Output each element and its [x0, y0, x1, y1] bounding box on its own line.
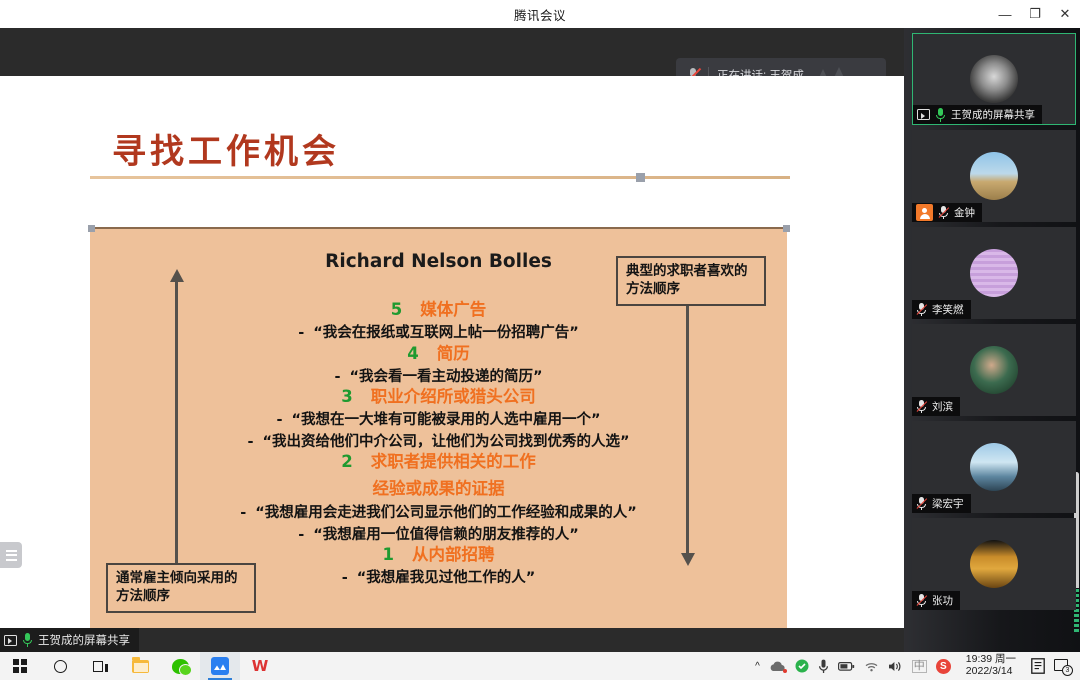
shared-slide[interactable]: 寻找工作机会 Richard Nelson Bolles 典型的求职者喜欢的方法…: [0, 76, 904, 628]
title-divider: [90, 176, 790, 179]
method-number: 5: [391, 300, 402, 319]
method-item-3: 3职业介绍所或猎头公司: [90, 389, 787, 406]
mic-muted-icon: [916, 497, 927, 510]
participant-name: 李笑燃: [932, 302, 964, 317]
host-person-icon: [916, 204, 933, 221]
mic-on-icon: [22, 633, 33, 647]
participant-name: 金钟: [954, 205, 975, 220]
clock-date: 2022/3/14: [966, 666, 1016, 678]
method-quote: -“我想雇用会走进我们公司显示他们的工作经验和成果的人”: [90, 506, 787, 521]
method-heading: 求职者提供相关的工作: [371, 452, 536, 471]
battery-icon[interactable]: [838, 661, 855, 672]
bullet-dash: -: [276, 412, 282, 428]
selection-handle-top-left[interactable]: [88, 225, 95, 232]
sogou-icon[interactable]: S: [936, 659, 951, 674]
wps-office-icon[interactable]: W: [240, 652, 280, 680]
mic-muted-icon: [938, 206, 949, 219]
method-quote: -“我会看一看主动投递的简历”: [90, 370, 787, 385]
share-status-label: 王贺成的屏幕共享: [38, 632, 130, 648]
method-number: 2: [341, 452, 352, 471]
cloud-sync-icon[interactable]: [769, 660, 786, 673]
participant-namebar: 刘滨: [912, 397, 960, 416]
method-quote: -“我会在报纸或互联网上帖一份招聘广告”: [90, 326, 787, 341]
participant-tile[interactable]: 李笑燃: [912, 227, 1076, 319]
method-quote: -“我想雇用一位值得信赖的朋友推荐的人”: [90, 528, 787, 543]
screen-share-icon: [917, 109, 930, 120]
participant-namebar: 李笑燃: [912, 300, 971, 319]
windows-taskbar: W ^: [0, 652, 1080, 680]
method-heading: 简历: [437, 344, 470, 363]
participant-rail[interactable]: 王贺成的屏幕共享金钟李笑燃刘滨梁宏宇张功: [904, 28, 1080, 652]
method-number: 4: [407, 344, 418, 363]
tencent-meeting-window: 腾讯会议 — ❐ ✕ 正在讲话: 王贺成 寻找工作机会: [0, 0, 1080, 680]
avatar: [970, 55, 1018, 103]
window-controls: — ❐ ✕: [990, 0, 1080, 28]
window-titlebar: 腾讯会议 — ❐ ✕: [0, 0, 1080, 28]
avatar: [970, 249, 1018, 297]
participant-namebar: 梁宏宇: [912, 494, 971, 513]
maximize-button[interactable]: ❐: [1020, 0, 1050, 28]
participant-namebar: 张功: [912, 591, 960, 610]
avatar: [970, 443, 1018, 491]
meeting-topbar: 正在讲话: 王贺成: [0, 28, 904, 76]
task-view-icon[interactable]: [80, 652, 120, 680]
participant-tile[interactable]: 梁宏宇: [912, 421, 1076, 513]
search-circle-icon[interactable]: [40, 652, 80, 680]
bullet-dash: -: [298, 527, 304, 543]
participant-name: 张功: [932, 593, 953, 608]
method-quote: -“我想在一大堆有可能被录用的人选中雇用一个”: [90, 413, 787, 428]
mic-muted-icon: [916, 303, 927, 316]
wechat-icon[interactable]: [160, 652, 200, 680]
share-status-label-wrap: 王贺成的屏幕共享: [0, 628, 139, 652]
participant-name: 王贺成的屏幕共享: [951, 107, 1035, 122]
window-title: 腾讯会议: [514, 5, 566, 24]
notes-icon[interactable]: [1031, 658, 1045, 674]
meeting-stage: 正在讲话: 王贺成 寻找工作机会 Richard Nelson Bolles 典…: [0, 28, 904, 652]
bullet-dash: -: [342, 570, 348, 586]
avatar: [970, 346, 1018, 394]
minimize-button[interactable]: —: [990, 0, 1020, 28]
method-item-2: 2求职者提供相关的工作: [90, 454, 787, 471]
participant-tile[interactable]: 金钟: [912, 130, 1076, 222]
method-item-1: 1从内部招聘: [90, 547, 787, 564]
microphone-icon[interactable]: [818, 659, 829, 674]
bullet-dash: -: [240, 505, 246, 521]
slide-title: 寻找工作机会: [112, 124, 340, 173]
avatar: [970, 540, 1018, 588]
participant-tile[interactable]: 张功: [912, 518, 1076, 610]
tray-chevron-icon[interactable]: ^: [755, 661, 760, 672]
selection-handle-top-right[interactable]: [783, 225, 790, 232]
slide-content-box: Richard Nelson Bolles 典型的求职者喜欢的方法顺序 通常雇主…: [90, 227, 787, 628]
method-list: 5媒体广告-“我会在报纸或互联网上帖一份招聘广告”4简历-“我会看一看主动投递的…: [90, 297, 787, 586]
windows-start-icon[interactable]: [0, 652, 40, 680]
security-icon[interactable]: [795, 659, 809, 673]
wifi-icon[interactable]: [864, 660, 879, 672]
list-panel-icon[interactable]: [0, 542, 22, 568]
screen-share-icon: [4, 635, 17, 646]
close-button[interactable]: ✕: [1050, 0, 1080, 28]
bullet-dash: -: [298, 325, 304, 341]
method-quote: -“我出资给他们中介公司，让他们为公司找到优秀的人选”: [90, 435, 787, 450]
mic-on-icon: [935, 108, 946, 122]
ime-cn-icon[interactable]: 中: [912, 660, 927, 673]
participant-namebar: 王贺成的屏幕共享: [913, 105, 1042, 124]
volume-icon[interactable]: [888, 660, 903, 673]
method-heading: 从内部招聘: [412, 545, 495, 564]
file-explorer-icon[interactable]: [120, 652, 160, 680]
share-status-bar: 王贺成的屏幕共享: [0, 628, 904, 652]
resize-handle[interactable]: [636, 173, 645, 182]
participant-tile[interactable]: 刘滨: [912, 324, 1076, 416]
method-heading: 媒体广告: [420, 300, 486, 319]
notification-icon[interactable]: 3: [1054, 658, 1072, 674]
method-item-4: 4简历: [90, 346, 787, 363]
method-quote: -“我想雇我见过他工作的人”: [90, 571, 787, 586]
participant-tile[interactable]: 王贺成的屏幕共享: [912, 33, 1076, 125]
method-number: 1: [383, 545, 394, 564]
method-heading: 职业介绍所或猎头公司: [371, 387, 536, 406]
mic-muted-icon: [916, 400, 927, 413]
bullet-dash: -: [247, 434, 253, 450]
taskbar-clock[interactable]: 19:39 周一 2022/3/14: [966, 654, 1016, 678]
method-heading-line2: 经验或成果的证据: [90, 475, 787, 499]
bullet-dash: -: [334, 369, 340, 385]
mic-muted-icon: [916, 594, 927, 607]
notification-count: 3: [1062, 665, 1073, 676]
avatar: [970, 152, 1018, 200]
participant-name: 梁宏宇: [932, 496, 964, 511]
participant-namebar: 金钟: [912, 203, 982, 222]
participant-name: 刘滨: [932, 399, 953, 414]
method-number: 3: [341, 387, 352, 406]
method-item-5: 5媒体广告: [90, 302, 787, 319]
tencent-meeting-icon[interactable]: [200, 652, 240, 680]
